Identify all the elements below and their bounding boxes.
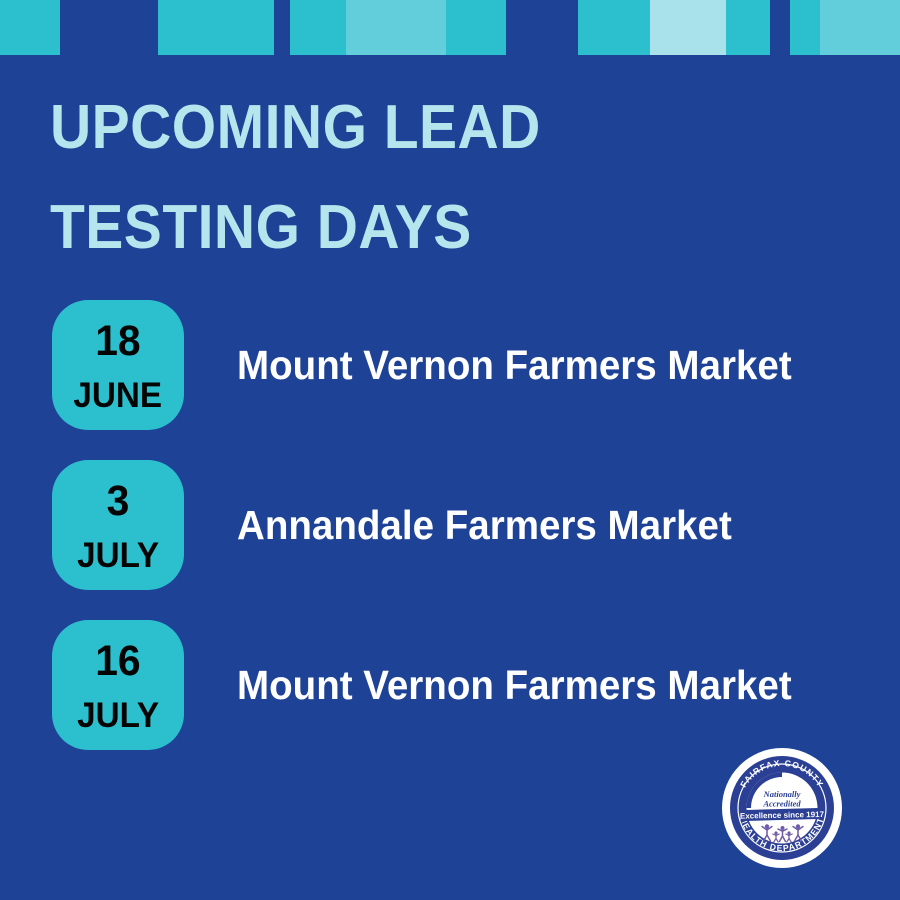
stripe-segment [30, 0, 60, 55]
stripe-segment [60, 0, 100, 55]
stripe-segment [346, 0, 396, 55]
page-title-line-2: TESTING DAYS [50, 178, 786, 278]
poster-canvas: UPCOMING LEAD TESTING DAYS 18 JUNE Mount… [0, 0, 900, 900]
stripe-segment [274, 0, 290, 55]
stripe-segment [870, 0, 900, 55]
date-badge: 3 JULY [52, 460, 184, 590]
event-list: 18 JUNE Mount Vernon Farmers Market 3 JU… [52, 300, 852, 780]
stripe-segment [770, 0, 790, 55]
stripe-segment [578, 0, 614, 55]
date-badge-month: JUNE [74, 376, 163, 416]
page-title: UPCOMING LEAD TESTING DAYS [50, 78, 850, 278]
stripe-segment [726, 0, 770, 55]
list-item: 16 JULY Mount Vernon Farmers Market [52, 620, 852, 750]
stripe-segment [790, 0, 820, 55]
event-location-name: Mount Vernon Farmers Market [237, 342, 792, 388]
date-badge-day: 16 [95, 638, 140, 684]
date-badge-day: 3 [107, 478, 130, 524]
stripe-segment [650, 0, 678, 55]
list-item: 3 JULY Annandale Farmers Market [52, 460, 852, 590]
date-badge: 18 JUNE [52, 300, 184, 430]
fairfax-county-health-department-seal-logo: FAIRFAX COUNTY HEALTH DEPARTMENT Nationa… [722, 748, 842, 868]
stripe-segment [678, 0, 726, 55]
event-location-name: Mount Vernon Farmers Market [237, 662, 792, 708]
top-stripe-band [0, 0, 900, 55]
seal-banner-text: Excellence since 1917 [740, 810, 825, 821]
date-badge-day: 18 [95, 318, 140, 364]
stripe-segment [100, 0, 158, 55]
stripe-segment [290, 0, 322, 55]
stripe-segment [820, 0, 870, 55]
stripe-segment [0, 0, 30, 55]
event-location-name: Annandale Farmers Market [237, 502, 732, 548]
stripe-segment [158, 0, 216, 55]
stripe-segment [322, 0, 346, 55]
stripe-segment [518, 0, 578, 55]
date-badge-month: JULY [77, 536, 159, 576]
date-badge: 16 JULY [52, 620, 184, 750]
stripe-segment [506, 0, 518, 55]
seal-accredited-text: Accredited [762, 799, 801, 809]
stripe-segment [614, 0, 650, 55]
date-badge-month: JULY [77, 696, 159, 736]
stripe-segment [396, 0, 446, 55]
list-item: 18 JUNE Mount Vernon Farmers Market [52, 300, 852, 430]
seal-nationally-text: Nationally [763, 789, 801, 799]
page-title-line-1: UPCOMING LEAD [50, 78, 786, 178]
stripe-segment [446, 0, 506, 55]
stripe-segment [216, 0, 274, 55]
